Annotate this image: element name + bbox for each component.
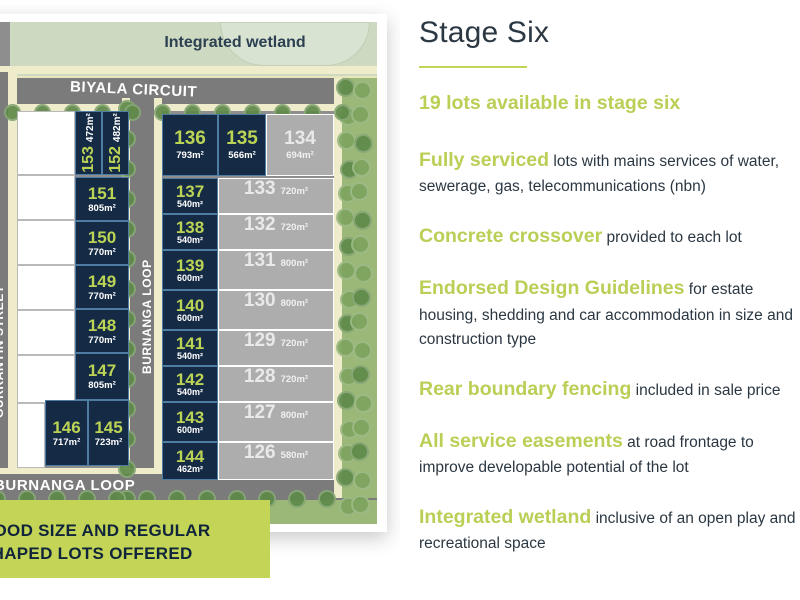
lot-129[interactable]: 129 720m²	[218, 330, 334, 366]
lot-number: 140	[176, 297, 204, 314]
estate-map-plan[interactable]: Integrated wetland	[0, 22, 377, 524]
verge-burnanga-east	[154, 98, 162, 498]
lot-number: 128	[244, 367, 276, 386]
lot-number: 137	[176, 183, 204, 200]
feature-item: Fully serviced lots with mains services …	[419, 145, 800, 199]
unreleased-block	[17, 355, 75, 403]
lot-area: 723m²	[95, 438, 122, 448]
feature-item: Concrete crossover provided to each lot	[419, 221, 800, 251]
feature-highlight: Endorsed Design Guidelines	[419, 277, 684, 299]
lot-152[interactable]: 152 482m²	[102, 111, 129, 175]
unreleased-block	[17, 111, 75, 175]
lot-area: 462m²	[177, 465, 203, 474]
lot-153[interactable]: 153 472m²	[75, 111, 102, 175]
lot-number: 146	[52, 419, 80, 436]
lot-area: 540m²	[177, 236, 203, 245]
gurranyin-street-road	[0, 72, 8, 492]
verge-top	[0, 66, 377, 74]
lot-number: 150	[88, 229, 116, 246]
lot-area: 770m²	[88, 336, 115, 346]
lot-number: 133	[244, 179, 276, 198]
unreleased-block	[17, 403, 45, 468]
feature-highlight: Fully serviced	[419, 149, 549, 171]
lot-area: 800m²	[281, 299, 308, 309]
feature-highlight: Rear boundary fencing	[419, 378, 631, 400]
lot-area: 770m²	[88, 292, 115, 302]
lot-area: 720m²	[281, 187, 308, 197]
promo-line-1: GOOD SIZE AND REGULAR	[0, 520, 270, 543]
lot-127[interactable]: 127 800m²	[218, 402, 334, 442]
lot-133[interactable]: 133 720m²	[218, 178, 334, 214]
lot-142[interactable]: 142 540m²	[162, 366, 218, 402]
lot-number: 139	[176, 257, 204, 274]
lot-area: 770m²	[88, 248, 115, 258]
street-label-gurranyin-street: GURRANYIN STREET	[0, 285, 6, 418]
lot-138[interactable]: 138 540m²	[162, 214, 218, 250]
lot-area: 793m²	[176, 151, 203, 161]
lot-area: 472m²	[86, 113, 96, 142]
title-divider	[419, 66, 527, 68]
lot-area: 805m²	[88, 381, 115, 391]
lot-number: 149	[88, 273, 116, 290]
lot-128[interactable]: 128 720m²	[218, 366, 334, 402]
lot-area: 720m²	[281, 375, 308, 385]
lot-area: 566m²	[228, 151, 255, 161]
lot-area: 800m²	[281, 259, 308, 269]
lot-number: 126	[244, 443, 276, 462]
lot-131[interactable]: 131 800m²	[218, 250, 334, 290]
lot-135[interactable]: 135 566m²	[218, 114, 266, 176]
lot-area: 800m²	[281, 411, 308, 421]
lot-area: 717m²	[53, 438, 80, 448]
lot-number: 147	[88, 362, 116, 379]
lot-number: 145	[94, 419, 122, 436]
lot-area: 805m²	[88, 204, 115, 214]
unreleased-block	[17, 310, 75, 355]
feature-item: Integrated wetland inclusive of an open …	[419, 502, 800, 556]
promo-line-2: SHAPED LOTS OFFERED	[0, 543, 270, 566]
street-label-burnanga-loop-horizontal: BURNANGA LOOP	[0, 477, 135, 494]
lot-number: 144	[176, 448, 204, 465]
lot-number: 148	[88, 317, 116, 334]
feature-highlight: Integrated wetland	[419, 506, 591, 528]
unreleased-block	[17, 265, 75, 310]
lot-151[interactable]: 151 805m²	[75, 177, 129, 221]
lot-145[interactable]: 145 723m²	[88, 400, 129, 466]
lot-number: 143	[176, 409, 204, 426]
verge-gurranyin-east	[8, 72, 17, 492]
unreleased-block	[17, 220, 75, 265]
lot-144[interactable]: 144 462m²	[162, 442, 218, 480]
lot-number: 131	[244, 251, 276, 270]
feature-item: Rear boundary fencing included in sale p…	[419, 374, 800, 404]
lot-area: 540m²	[177, 200, 203, 209]
lot-134[interactable]: 134 694m²	[266, 114, 334, 176]
lot-141[interactable]: 141 540m²	[162, 330, 218, 366]
lot-148[interactable]: 148 770m²	[75, 309, 129, 353]
lot-139[interactable]: 139 600m²	[162, 250, 218, 290]
lot-area: 540m²	[177, 388, 203, 397]
feature-highlight: All service easements	[419, 430, 623, 452]
lot-147[interactable]: 147 805m²	[75, 353, 129, 400]
lot-area: 720m²	[281, 339, 308, 349]
lot-140[interactable]: 140 600m²	[162, 290, 218, 330]
lot-150[interactable]: 150 770m²	[75, 221, 129, 265]
lot-number: 141	[176, 335, 204, 352]
feature-body: included in sale price	[631, 382, 780, 399]
unreleased-block	[17, 175, 75, 220]
lot-number: 130	[244, 291, 276, 310]
lot-number: 153	[81, 146, 97, 173]
lot-130[interactable]: 130 800m²	[218, 290, 334, 330]
lot-area: 600m²	[177, 426, 203, 435]
lot-area: 600m²	[177, 274, 203, 283]
lot-number: 138	[176, 219, 204, 236]
lot-146[interactable]: 146 717m²	[45, 400, 88, 466]
lot-143[interactable]: 143 600m²	[162, 402, 218, 442]
lot-number: 151	[88, 185, 116, 202]
lot-136[interactable]: 136 793m²	[162, 114, 218, 176]
lot-number: 129	[244, 331, 276, 350]
page-title: Stage Six	[419, 16, 800, 50]
wetland-label: Integrated wetland	[110, 34, 360, 52]
lot-area: 600m²	[177, 314, 203, 323]
lot-number: 134	[284, 129, 316, 148]
lot-area: 540m²	[177, 352, 203, 361]
feature-body: provided to each lot	[602, 229, 742, 246]
promo-banner: GOOD SIZE AND REGULAR SHAPED LOTS OFFERE…	[0, 500, 270, 578]
lot-number: 127	[244, 403, 276, 422]
lot-132[interactable]: 132 720m²	[218, 214, 334, 250]
lot-area: 482m²	[113, 113, 123, 142]
lot-area: 580m²	[281, 451, 308, 461]
feature-highlight: Concrete crossover	[419, 225, 602, 247]
stage-info-panel: Stage Six 19 lots available in stage six…	[419, 0, 800, 600]
estate-map-panel: Integrated wetland	[0, 0, 400, 600]
lot-137[interactable]: 137 540m²	[162, 178, 218, 214]
lot-number: 142	[176, 371, 204, 388]
lot-number: 132	[244, 215, 276, 234]
feature-item: Endorsed Design Guidelines for estate ho…	[419, 273, 800, 351]
tree-belt-east	[338, 80, 364, 500]
lots-available-headline: 19 lots available in stage six	[419, 92, 800, 115]
lot-number: 135	[226, 129, 258, 148]
estate-map-card[interactable]: Integrated wetland	[0, 14, 387, 532]
lot-area: 720m²	[281, 223, 308, 233]
street-label-burnanga-loop-vertical: BURNANGA LOOP	[140, 259, 154, 374]
lot-number: 136	[174, 129, 206, 148]
lot-area: 694m²	[286, 151, 313, 161]
lot-number: 152	[108, 146, 124, 173]
lot-126[interactable]: 126 580m²	[218, 442, 334, 480]
lot-149[interactable]: 149 770m²	[75, 265, 129, 309]
feature-item: All service easements at road frontage t…	[419, 426, 800, 480]
